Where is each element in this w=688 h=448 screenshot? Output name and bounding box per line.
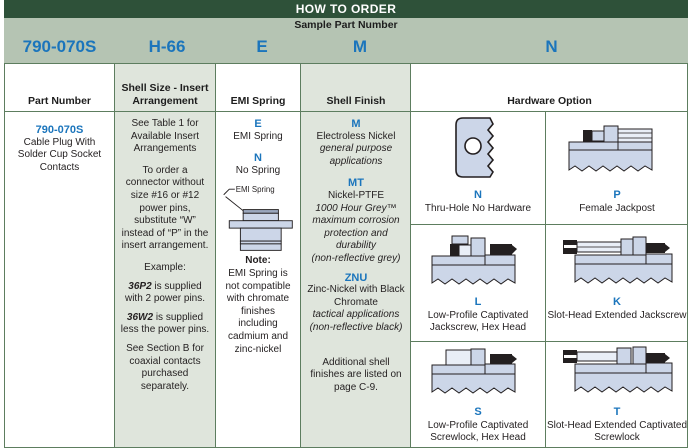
hardware-option-n: N Thru-Hole No Hardware [411,111,545,223]
hardware-k-label: Slot-Head Extended Jackscrew [546,310,688,322]
page-title: HOW TO ORDER [4,0,688,18]
cell-emi-spring: E EMI Spring N No Spring EMI Spring [215,111,301,448]
hardware-n-code: N [411,189,545,202]
thru-hole-icon [411,111,545,189]
sample-code-part-number: 790-070S [4,33,115,61]
emi-option-n-label: No Spring [220,165,296,178]
col-divider-2 [215,63,216,448]
column-header-shell-size: Shell Size - Insert Arrangement [115,63,215,111]
slot-head-jackscrew-icon [546,224,688,296]
sample-part-number-band: Sample Part Number 790-070S H-66 E M N [4,18,688,63]
finish-m-name: Electroless Nickel [306,131,406,144]
finish-footnote: Additional shell finishes are listed on … [306,357,406,395]
hardware-l-label: Low-Profile Captivated Jackscrew, Hex He… [411,310,545,335]
low-profile-screwlock-icon [411,341,545,406]
sample-code-shell-finish: M [305,33,415,61]
emi-note-label: Note: [220,255,296,268]
column-header-emi-spring: EMI Spring [215,63,301,111]
hardware-p-label: Female Jackpost [546,203,688,215]
hardware-s-label: Low-Profile Captivated Screwlock, Hex He… [411,420,545,445]
example-1-code: 36P2 [128,281,151,292]
emi-option-e-label: EMI Spring [220,131,296,144]
hardware-option-l: L Low-Profile Captivated Jackscrew, Hex … [411,224,545,340]
header-divider [4,111,688,112]
how-to-order-table: HOW TO ORDER Sample Part Number 790-070S… [0,0,688,448]
shell-size-coax-note: See Section B for coaxial contacts purch… [120,343,210,393]
col-divider-4 [410,63,411,448]
part-number-code: 790-070S [9,124,110,137]
slot-head-screwlock-icon [546,341,688,406]
hardware-n-label: Thru-Hole No Hardware [411,203,545,215]
hardware-s-code: S [411,406,545,419]
sample-code-hardware: N [415,33,688,61]
finish-znu-name: Zinc-Nickel with Black Chromate [306,284,406,309]
hardware-option-t: T Slot-Head Extended Captivated Screwloc… [546,341,688,448]
finish-znu-detail: tactical applications [306,309,406,322]
hardware-row-divider-1 [411,224,688,225]
finish-m-code: M [306,118,406,131]
column-header-shell-finish: Shell Finish [301,63,411,111]
sample-code-emi-spring: E [219,33,305,61]
cell-shell-finish: M Electroless Nickel general purpose app… [301,111,411,448]
hardware-l-code: L [411,296,545,309]
sample-part-number-codes: 790-070S H-66 E M N [4,33,688,63]
col-divider-3 [300,63,301,448]
hardware-t-code: T [546,406,688,419]
finish-znu-detail-2: (non-reflective black) [306,322,406,335]
column-header-hardware: Hardware Option [411,63,688,111]
cell-hardware: N Thru-Hole No Hardware [411,111,688,448]
shell-size-example-2: 36W2 is supplied less the power pins. [120,312,210,337]
emi-spring-diagram: EMI Spring [220,179,296,255]
hardware-k-code: K [546,296,688,309]
emi-diagram-callout-text: EMI Spring [236,185,275,194]
finish-mt-detail-2: (non-reflective grey) [306,253,406,266]
hardware-p-code: P [546,189,688,202]
female-jackpost-icon [546,111,688,189]
hardware-col-divider [545,112,546,448]
finish-mt-code: MT [306,177,406,190]
shell-size-substitution-note: To order a connector without size #16 or… [120,165,210,253]
emi-note-text: EMI Spring is not compatible with chroma… [220,268,296,356]
hardware-option-p: P Female Jackpost [546,111,688,223]
cell-part-number: 790-070S Cable Plug With Solder Cup Sock… [4,111,115,448]
finish-mt-name: Nickel-PTFE [306,190,406,203]
column-header-part-number: Part Number [4,63,115,111]
hardware-t-label: Slot-Head Extended Captivated Screwlock [546,420,688,445]
cell-shell-size: See Table 1 for Available Insert Arrange… [115,111,215,448]
finish-znu-code: ZNU [306,272,406,285]
finish-mt-detail: 1000 Hour Grey™ maximum corrosion protec… [306,203,406,253]
hardware-row-divider-2 [411,341,688,342]
finish-m-detail: general purpose applications [306,143,406,168]
emi-option-e-code: E [220,118,296,131]
col-divider-1 [114,63,115,448]
hardware-option-s: S Low-Profile Captivated Screwlock, Hex … [411,341,545,448]
shell-size-table-ref: See Table 1 for Available Insert Arrange… [120,118,210,156]
shell-size-example-1: 36P2 is supplied with 2 power pins. [120,281,210,306]
sample-part-number-label: Sample Part Number [4,19,688,31]
example-2-code: 36W2 [127,312,153,323]
low-profile-jackscrew-icon [411,224,545,296]
emi-option-n-code: N [220,152,296,165]
hardware-option-k: K Slot-Head Extended Jackscrew [546,224,688,340]
sample-code-shell-size: H-66 [115,33,219,61]
shell-size-example-label: Example: [120,262,210,275]
part-number-description: Cable Plug With Solder Cup Socket Contac… [9,137,110,175]
